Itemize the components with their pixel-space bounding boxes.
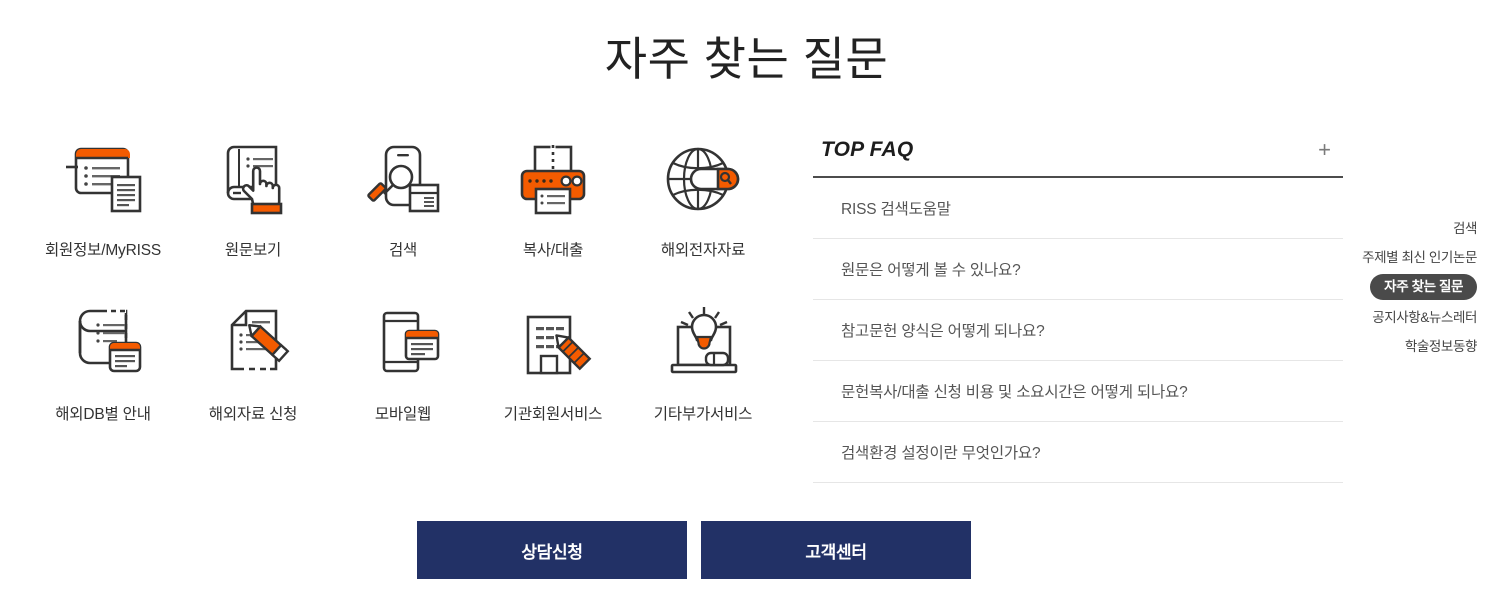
- service-item-label: 회원정보/MyRISS: [45, 238, 161, 260]
- window-list-document-icon: [55, 132, 151, 228]
- service-item-overseas-db-guide[interactable]: 해외DB별 안내: [28, 296, 178, 424]
- faq-list-item[interactable]: RISS 검색도움말: [813, 178, 1343, 239]
- building-pencil-icon: [505, 296, 601, 392]
- customer-center-button[interactable]: 고객센터: [701, 521, 971, 579]
- globe-search-icon: [655, 132, 751, 228]
- faq-page: 자주 찾는 질문: [0, 0, 1493, 612]
- database-card-icon: [55, 296, 151, 392]
- service-item-label: 기타부가서비스: [654, 402, 752, 424]
- service-item-mobile-web[interactable]: 모바일웹: [328, 296, 478, 424]
- side-nav-item-notice-newsletter[interactable]: 공지사항&뉴스레터: [1372, 303, 1477, 332]
- page-title: 자주 찾는 질문: [0, 28, 1493, 90]
- consult-request-button[interactable]: 상담신청: [417, 521, 687, 579]
- service-item-label: 해외자료 신청: [209, 402, 297, 424]
- faq-list-item[interactable]: 참고문헌 양식은 어떻게 되나요?: [813, 300, 1343, 361]
- service-item-label: 해외DB별 안내: [55, 402, 151, 424]
- service-icon-grid: 회원정보/MyRISS 원문보기: [28, 132, 778, 424]
- top-faq-title: TOP FAQ: [821, 138, 913, 162]
- top-faq-header: TOP FAQ +: [813, 138, 1343, 178]
- book-hand-pointer-icon: [205, 132, 301, 228]
- quick-side-nav: 검색 주제별 최신 인기논문 자주 찾는 질문 공지사항&뉴스레터 학술정보동향: [1327, 214, 1477, 361]
- service-item-label: 기관회원서비스: [504, 402, 602, 424]
- side-nav-item-popular-papers[interactable]: 주제별 최신 인기논문: [1362, 243, 1477, 272]
- service-item-overseas-request[interactable]: 해외자료 신청: [178, 296, 328, 424]
- document-pencil-icon: [205, 296, 301, 392]
- service-item-label: 해외전자자료: [661, 238, 745, 260]
- side-nav-item-academic-trends[interactable]: 학술정보동향: [1405, 332, 1477, 361]
- side-nav-item-faq[interactable]: 자주 찾는 질문: [1370, 274, 1477, 300]
- top-faq-panel: TOP FAQ + RISS 검색도움말 원문은 어떻게 볼 수 있나요? 참고…: [813, 138, 1343, 483]
- plus-icon[interactable]: +: [1314, 139, 1335, 161]
- faq-list-item[interactable]: 원문은 어떻게 볼 수 있나요?: [813, 239, 1343, 300]
- phone-magnifier-document-icon: [355, 132, 451, 228]
- service-item-label: 원문보기: [225, 238, 281, 260]
- side-nav-item-search[interactable]: 검색: [1453, 214, 1477, 243]
- service-item-institution-service[interactable]: 기관회원서비스: [478, 296, 628, 424]
- laptop-lightbulb-icon: [655, 296, 751, 392]
- printer-copier-icon: [505, 132, 601, 228]
- service-item-label: 검색: [389, 238, 417, 260]
- service-item-search[interactable]: 검색: [328, 132, 478, 260]
- service-item-extra-service[interactable]: 기타부가서비스: [628, 296, 778, 424]
- bottom-action-buttons: 상담신청 고객센터: [417, 521, 971, 579]
- service-item-overseas-edata[interactable]: 해외전자자료: [628, 132, 778, 260]
- service-item-label: 복사/대출: [523, 238, 583, 260]
- service-item-myriss[interactable]: 회원정보/MyRISS: [28, 132, 178, 260]
- faq-list-item[interactable]: 문헌복사/대출 신청 비용 및 소요시간은 어떻게 되나요?: [813, 361, 1343, 422]
- service-item-label: 모바일웹: [375, 402, 431, 424]
- service-item-fulltext[interactable]: 원문보기: [178, 132, 328, 260]
- phone-card-icon: [355, 296, 451, 392]
- faq-list-item[interactable]: 검색환경 설정이란 무엇인가요?: [813, 422, 1343, 483]
- service-item-copy-loan[interactable]: 복사/대출: [478, 132, 628, 260]
